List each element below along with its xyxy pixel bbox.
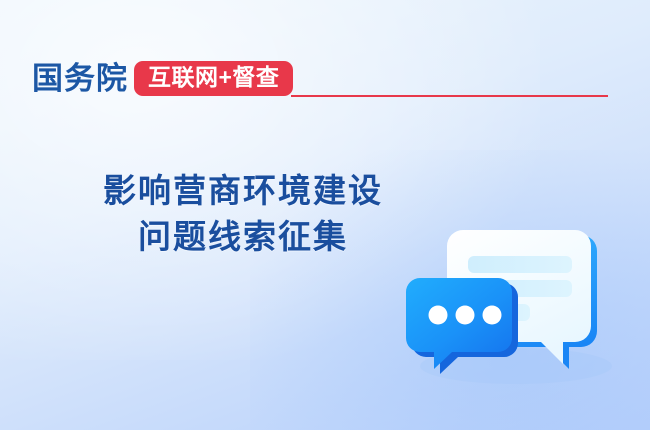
white-bubble-text-bar-1 xyxy=(468,256,572,273)
program-badge: 互联网+督查 xyxy=(134,61,293,96)
blue-bubble-dot-3 xyxy=(483,306,502,325)
page-title: 影响营商环境建设 问题线索征集 xyxy=(58,168,428,260)
speech-bubbles-svg xyxy=(398,208,618,393)
brand-lockup: 国务院 互联网+督查 xyxy=(32,56,293,100)
blue-bubble-dot-2 xyxy=(456,306,475,325)
program-badge-label: 互联网+督查 xyxy=(148,66,279,89)
header-divider-rule xyxy=(291,95,608,97)
page-title-line-1: 影响营商环境建设 xyxy=(58,168,428,214)
promo-banner: 国务院 互联网+督查 影响营商环境建设 问题线索征集 xyxy=(0,0,650,430)
page-title-line-2: 问题线索征集 xyxy=(58,214,428,260)
blue-bubble-dot-1 xyxy=(429,306,448,325)
gov-name-label: 国务院 xyxy=(32,63,128,94)
speech-bubbles-illustration xyxy=(398,208,618,393)
